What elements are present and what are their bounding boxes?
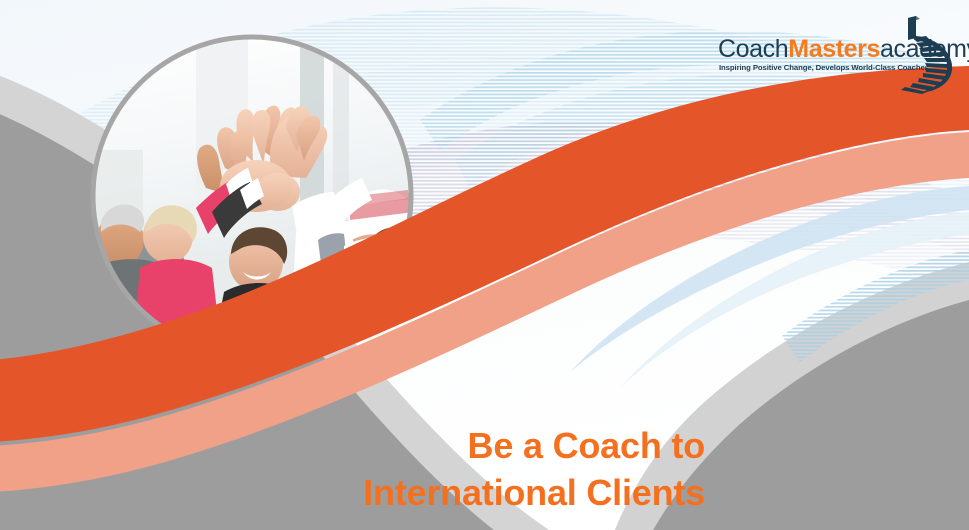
headline-line-2: International Clients xyxy=(363,469,705,516)
logo-word-coach: Coach xyxy=(718,35,788,63)
spiral-staircase-icon xyxy=(880,14,966,94)
headline: Be a Coach to International Clients xyxy=(363,422,705,516)
logo[interactable]: CoachMastersacademy Inspiring Positive C… xyxy=(718,26,963,94)
headline-line-1: Be a Coach to xyxy=(363,422,705,469)
logo-word-masters: Masters xyxy=(788,35,880,63)
promo-banner: CoachMastersacademy Inspiring Positive C… xyxy=(0,0,969,530)
